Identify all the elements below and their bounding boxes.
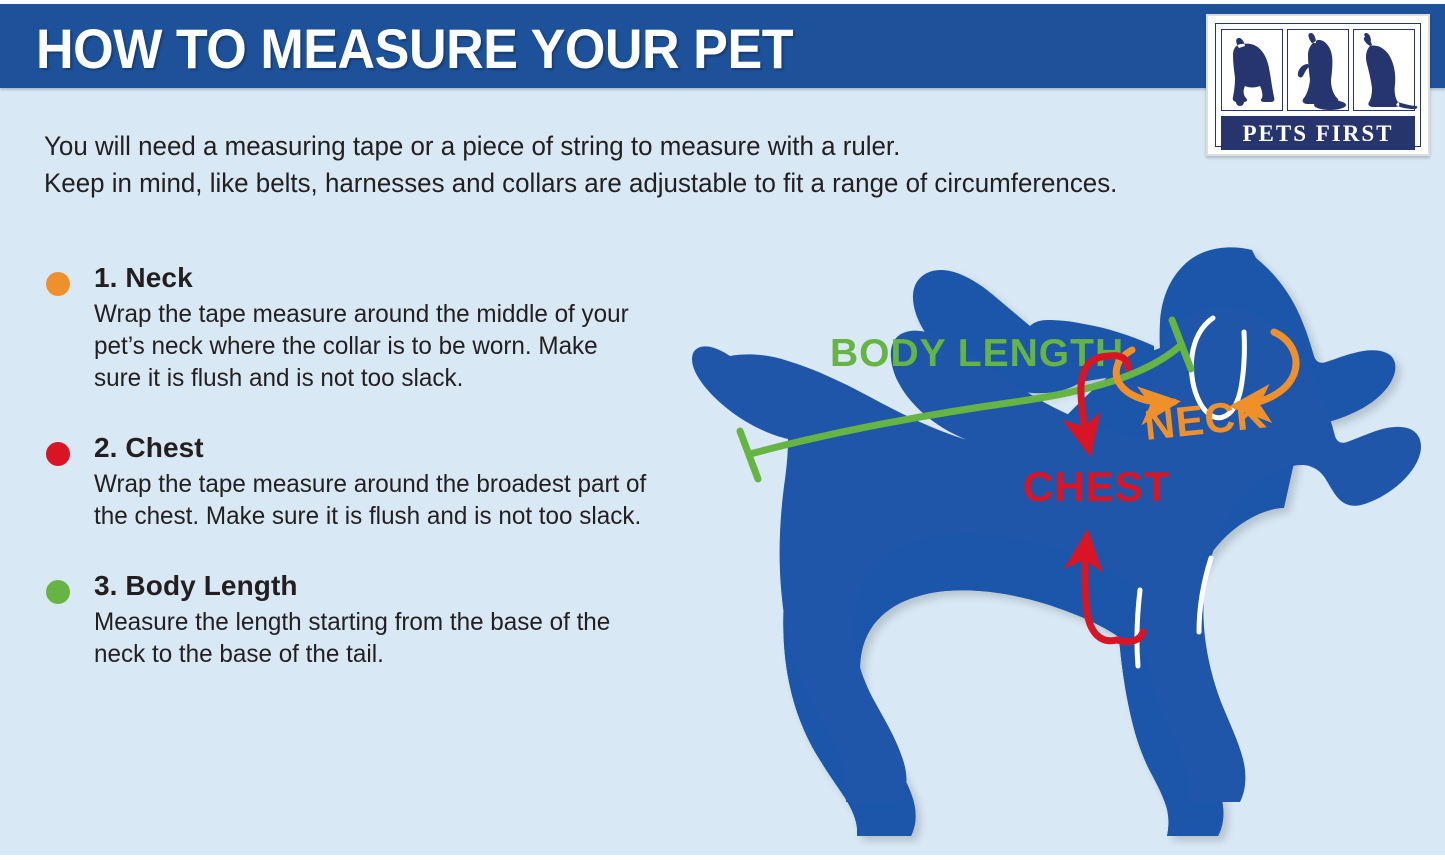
- dog-measurement-diagram: BODY LENGTH NECK CHEST: [640, 236, 1445, 846]
- brand-logo: PETS FIRST: [1206, 14, 1430, 156]
- step-neck-description: Wrap the tape measure around the middle …: [94, 298, 647, 394]
- measurement-guide-page: HOW TO MEASURE YOUR PET: [0, 0, 1445, 860]
- intro-line-2: Keep in mind, like belts, harnesses and …: [44, 165, 1148, 202]
- bullet-green-icon: [46, 580, 70, 604]
- logo-panel-sitting-dog: [1221, 29, 1283, 111]
- bullet-red-icon: [46, 442, 70, 466]
- begging-dog-icon: [1288, 30, 1348, 110]
- bottom-margin: [0, 855, 1445, 860]
- logo-panel-shepherd-dog: [1353, 29, 1415, 111]
- step-body-length-body: 3. Body Length Measure the length starti…: [44, 570, 644, 670]
- label-chest: CHEST: [1023, 463, 1170, 510]
- logo-dog-panels: [1221, 29, 1415, 111]
- step-body-length-description: Measure the length starting from the bas…: [94, 606, 647, 670]
- bullet-orange-icon: [46, 272, 70, 296]
- step-neck-title: 1. Neck: [94, 262, 644, 294]
- logo-panel-begging-dog: [1287, 29, 1349, 111]
- label-body-length: BODY LENGTH: [830, 332, 1124, 375]
- logo-inner-frame: PETS FIRST: [1215, 23, 1421, 147]
- logo-wordmark: PETS FIRST: [1242, 122, 1393, 145]
- sitting-dog-icon: [1222, 30, 1282, 110]
- intro-paragraph: You will need a measuring tape or a piec…: [44, 128, 1194, 202]
- step-chest-body: 2. Chest Wrap the tape measure around th…: [44, 432, 644, 532]
- steps-list: 1. Neck Wrap the tape measure around the…: [44, 262, 644, 708]
- step-chest-title: 2. Chest: [94, 432, 644, 464]
- step-item-body-length: 3. Body Length Measure the length starti…: [44, 570, 644, 670]
- step-item-neck: 1. Neck Wrap the tape measure around the…: [44, 262, 644, 394]
- page-title: HOW TO MEASURE YOUR PET: [36, 16, 793, 81]
- logo-wordmark-bar: PETS FIRST: [1221, 116, 1415, 150]
- step-item-chest: 2. Chest Wrap the tape measure around th…: [44, 432, 644, 532]
- intro-line-1: You will need a measuring tape or a piec…: [44, 128, 1148, 165]
- shepherd-dog-icon: [1354, 30, 1414, 110]
- step-chest-description: Wrap the tape measure around the broades…: [94, 468, 647, 532]
- step-neck-body: 1. Neck Wrap the tape measure around the…: [44, 262, 644, 394]
- step-body-length-title: 3. Body Length: [94, 570, 644, 602]
